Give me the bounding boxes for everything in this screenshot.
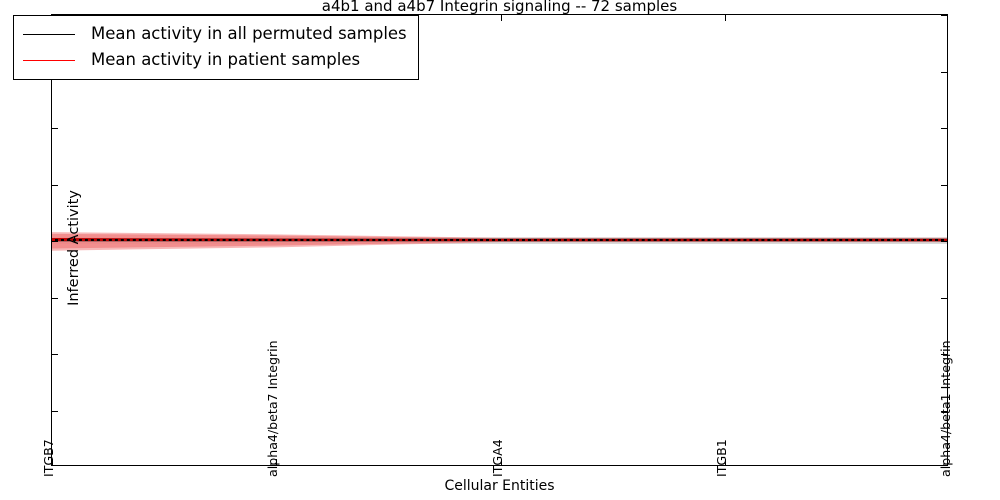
x-tick-mark	[501, 15, 502, 21]
x-tick-mark	[725, 15, 726, 21]
x-tick-label: ITGB7	[41, 439, 56, 477]
plot-area: 43210−1−2−3−4 Inferred Activity	[51, 14, 948, 466]
series-layer	[52, 15, 947, 465]
legend-label-permuted: Mean activity in all permuted samples	[91, 26, 407, 43]
y-tick-mark	[52, 185, 58, 186]
x-axis-label: Cellular Entities	[51, 478, 948, 494]
legend-line-swatch-permuted	[23, 34, 75, 35]
y-tick-mark	[52, 128, 58, 129]
y-axis-label: Inferred Activity	[66, 38, 82, 458]
legend-item: Mean activity in all permuted samples	[23, 21, 407, 47]
y-tick-mark	[941, 241, 947, 242]
x-tick-label: ITGB1	[714, 439, 729, 477]
chart-canvas: a4b1 and a4b7 Integrin signaling -- 72 s…	[0, 0, 1000, 500]
y-tick-mark	[52, 241, 58, 242]
y-tick-mark	[52, 411, 58, 412]
legend: Mean activity in all permuted samples Me…	[13, 15, 419, 80]
legend-label-patient: Mean activity in patient samples	[91, 52, 360, 69]
y-tick-mark	[941, 15, 947, 16]
legend-item: Mean activity in patient samples	[23, 47, 407, 73]
x-tick-label: ITGA4	[490, 439, 505, 477]
x-tick-label: alpha4/beta7 Integrin	[265, 340, 280, 477]
y-tick-mark	[941, 185, 947, 186]
legend-line-swatch-patient	[23, 60, 75, 61]
x-tick-label: alpha4/beta1 Integrin	[938, 340, 953, 477]
y-tick-mark	[941, 128, 947, 129]
y-tick-mark	[941, 298, 947, 299]
plot-inner	[52, 15, 947, 465]
y-tick-mark	[941, 72, 947, 73]
y-tick-mark	[52, 354, 58, 355]
y-tick-mark	[52, 298, 58, 299]
